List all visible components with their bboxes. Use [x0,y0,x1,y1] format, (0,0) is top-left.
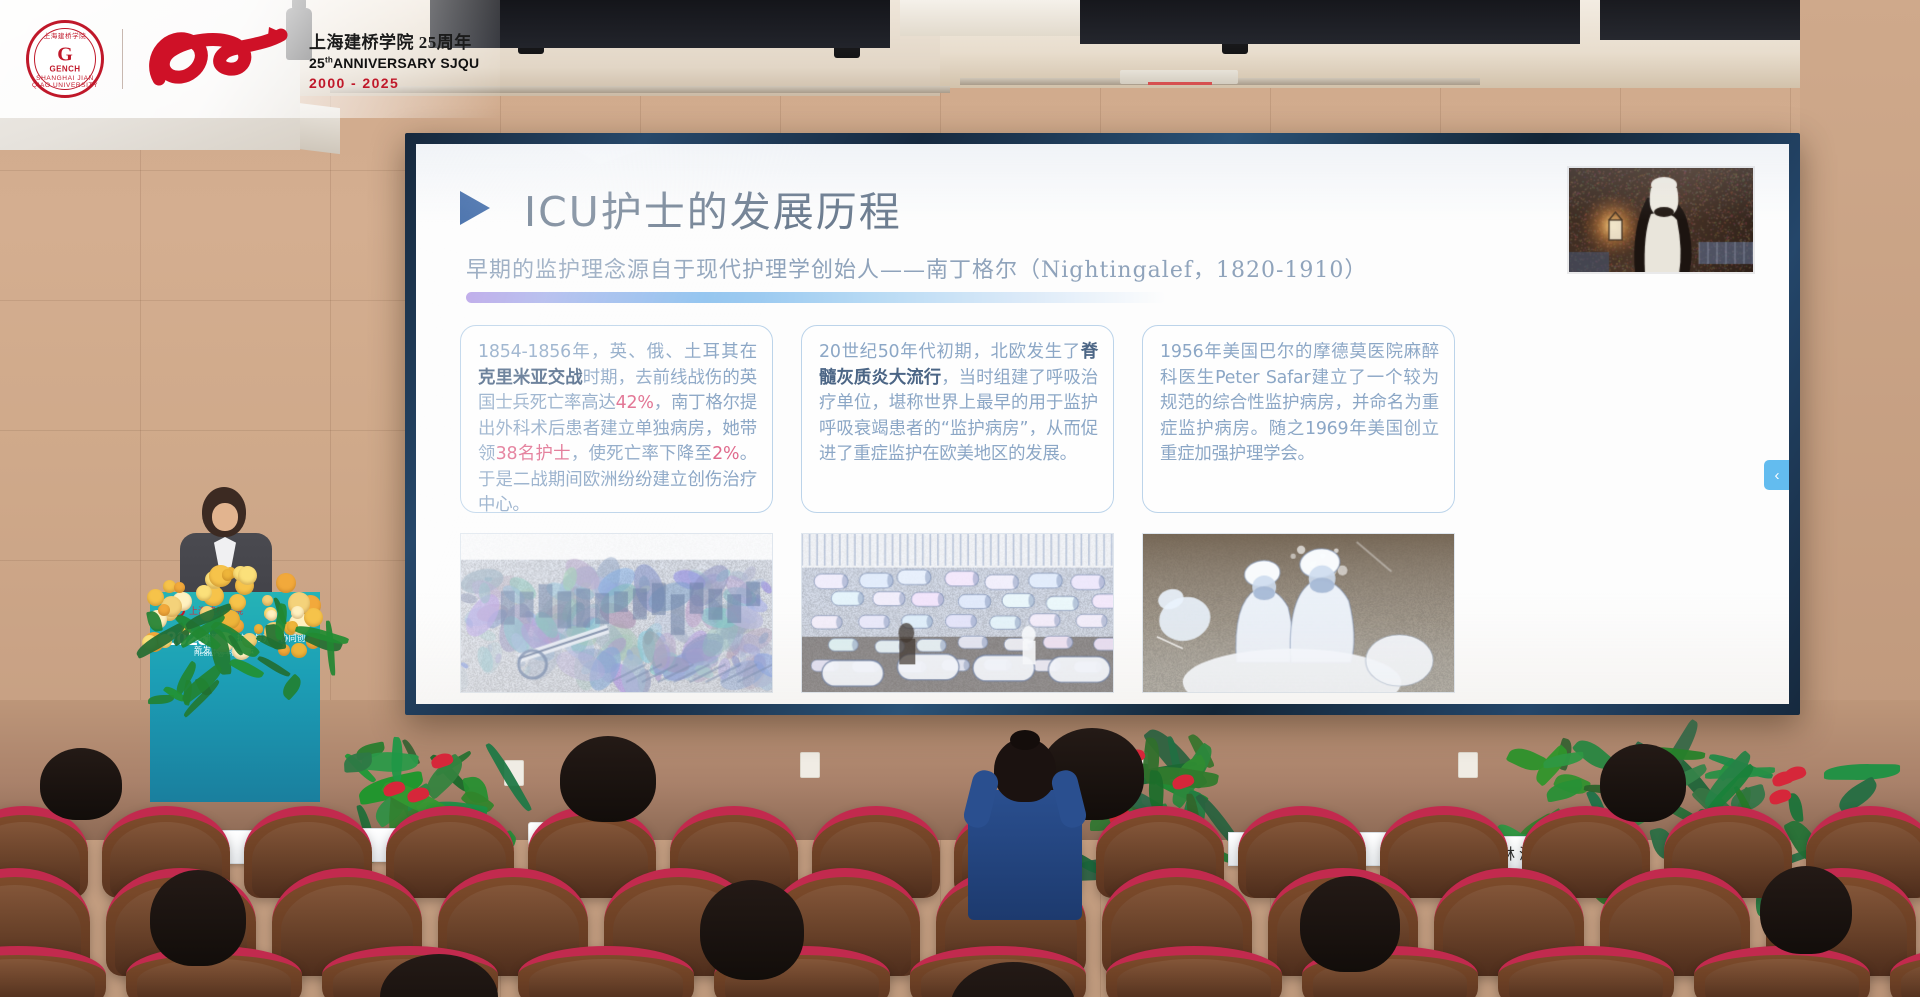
audience-seat [518,946,694,997]
banner-divider [122,29,123,89]
play-triangle-icon [460,191,490,225]
gradient-accent-bar [466,292,1166,303]
flower-leaf [148,695,174,705]
nightingale-portrait [1567,166,1755,274]
content-card: 20世纪50年代初期，北欧发生了脊髓灰质炎大流行，当时组建了呼吸治疗单位，堪称世… [801,325,1114,513]
photo-crimean-battlefield [460,533,773,693]
anniversary-text-block: 上海建桥学院 25周年 25thANNIVERSARY SJQU 2000 - … [309,28,479,91]
seal-monogram: G [50,45,81,65]
seal-brand-text: GENCH [50,65,81,74]
plant-leaf [1545,778,1584,802]
banner-th: th [325,55,333,64]
photo-row [460,533,1749,693]
wall-socket [1458,752,1478,778]
audience-head [700,880,804,980]
plant-leaf [1542,751,1584,769]
flower-leaf [278,673,305,700]
seal-top-arc-text: 上海建桥学院 [29,30,101,40]
slide-prev-chevron-icon[interactable]: ‹ [1764,460,1789,490]
card-text: 1956年美国巴尔的摩德莫医院麻醉科医生Peter Safar建立了一个较为规范… [1160,340,1439,468]
flower-blossom [158,604,170,616]
flower-blossom [254,624,263,633]
banner-line-en: 25thANNIVERSARY SJQU [309,55,479,71]
flower-blossom [196,585,212,601]
audience-head [560,736,656,822]
card-text: 1854-1856年，英、俄、土耳其在克里米亚交战时期，去前线战伤的英国士兵死亡… [478,340,757,519]
card-text: 20世纪50年代初期，北欧发生了脊髓灰质炎大流行，当时组建了呼吸治疗单位，堪称世… [819,340,1098,468]
audience-head [1300,876,1400,972]
slide-header: ICU护士的发展历程 [460,178,1749,238]
flower-blossom [229,594,246,611]
photo-iron-lung-ward [801,533,1114,693]
anniversary-25-ribbon-icon [141,13,291,105]
flower-blossom [291,606,304,619]
audience-head [150,870,246,966]
content-card: 1854-1856年，英、俄、土耳其在克里米亚交战时期，去前线战伤的英国士兵死亡… [460,325,773,513]
seal-bottom-arc-text: SHANGHAI JIAN QIAO UNIVERSITY [29,75,101,89]
university-anniversary-banner: 上海建桥学院 G GENCH SHANGHAI JIAN QIAO UNIVER… [0,0,500,118]
banner-line-cn: 上海建桥学院 25周年 [309,28,479,53]
attendee-bun [1010,730,1040,750]
slide-title: ICU护士的发展历程 [524,178,902,238]
flower-blossom [276,573,296,593]
audience-head [40,748,122,820]
presentation-slide[interactable]: ICU护士的发展历程 早期的监护理念源自于现代护理学创始人——南丁格尔（Nigh… [416,144,1789,704]
speaker-face [212,503,238,531]
audience-seat [0,946,106,997]
banner-anniversary-sjqu: ANNIVERSARY SJQU [333,55,479,71]
audience-seat [1498,946,1674,997]
audience-seat [1694,946,1870,997]
floral-arrangement [140,558,330,708]
banner-25: 25 [309,55,325,71]
slide-subtitle: 早期的监护理念源自于现代护理学创始人——南丁格尔（Nightingalef，18… [466,252,1749,284]
ceiling-tile [900,0,1080,36]
ceiling-baffle [1080,0,1580,44]
photo-operating-room [1142,533,1455,693]
audience-head [1760,866,1852,954]
banner-years: 2000 - 2025 [309,75,479,91]
flower-blossom [262,595,273,606]
flower-blossom [266,610,277,621]
audience-head [1600,744,1686,822]
university-seal-logo: 上海建桥学院 G GENCH SHANGHAI JIAN QIAO UNIVER… [26,20,104,98]
seated-attendee-photographing [960,730,1090,920]
content-card-row: 1854-1856年，英、俄、土耳其在克里米亚交战时期，去前线战伤的英国士兵死亡… [460,325,1749,513]
projection-screen-frame: ICU护士的发展历程 早期的监护理念源自于现代护理学创始人——南丁格尔（Nigh… [405,133,1800,715]
flower-blossom [291,643,307,659]
emergency-strip [1148,82,1212,85]
audience-seat [1106,946,1282,997]
wall-socket [800,752,820,778]
flower-blossom [174,582,185,593]
flower-blossom [238,566,258,586]
anthurium-flower [1783,764,1808,783]
content-card: 1956年美国巴尔的摩德莫医院麻醉科医生Peter Safar建立了一个较为规范… [1142,325,1455,513]
flower-blossom [222,569,233,580]
